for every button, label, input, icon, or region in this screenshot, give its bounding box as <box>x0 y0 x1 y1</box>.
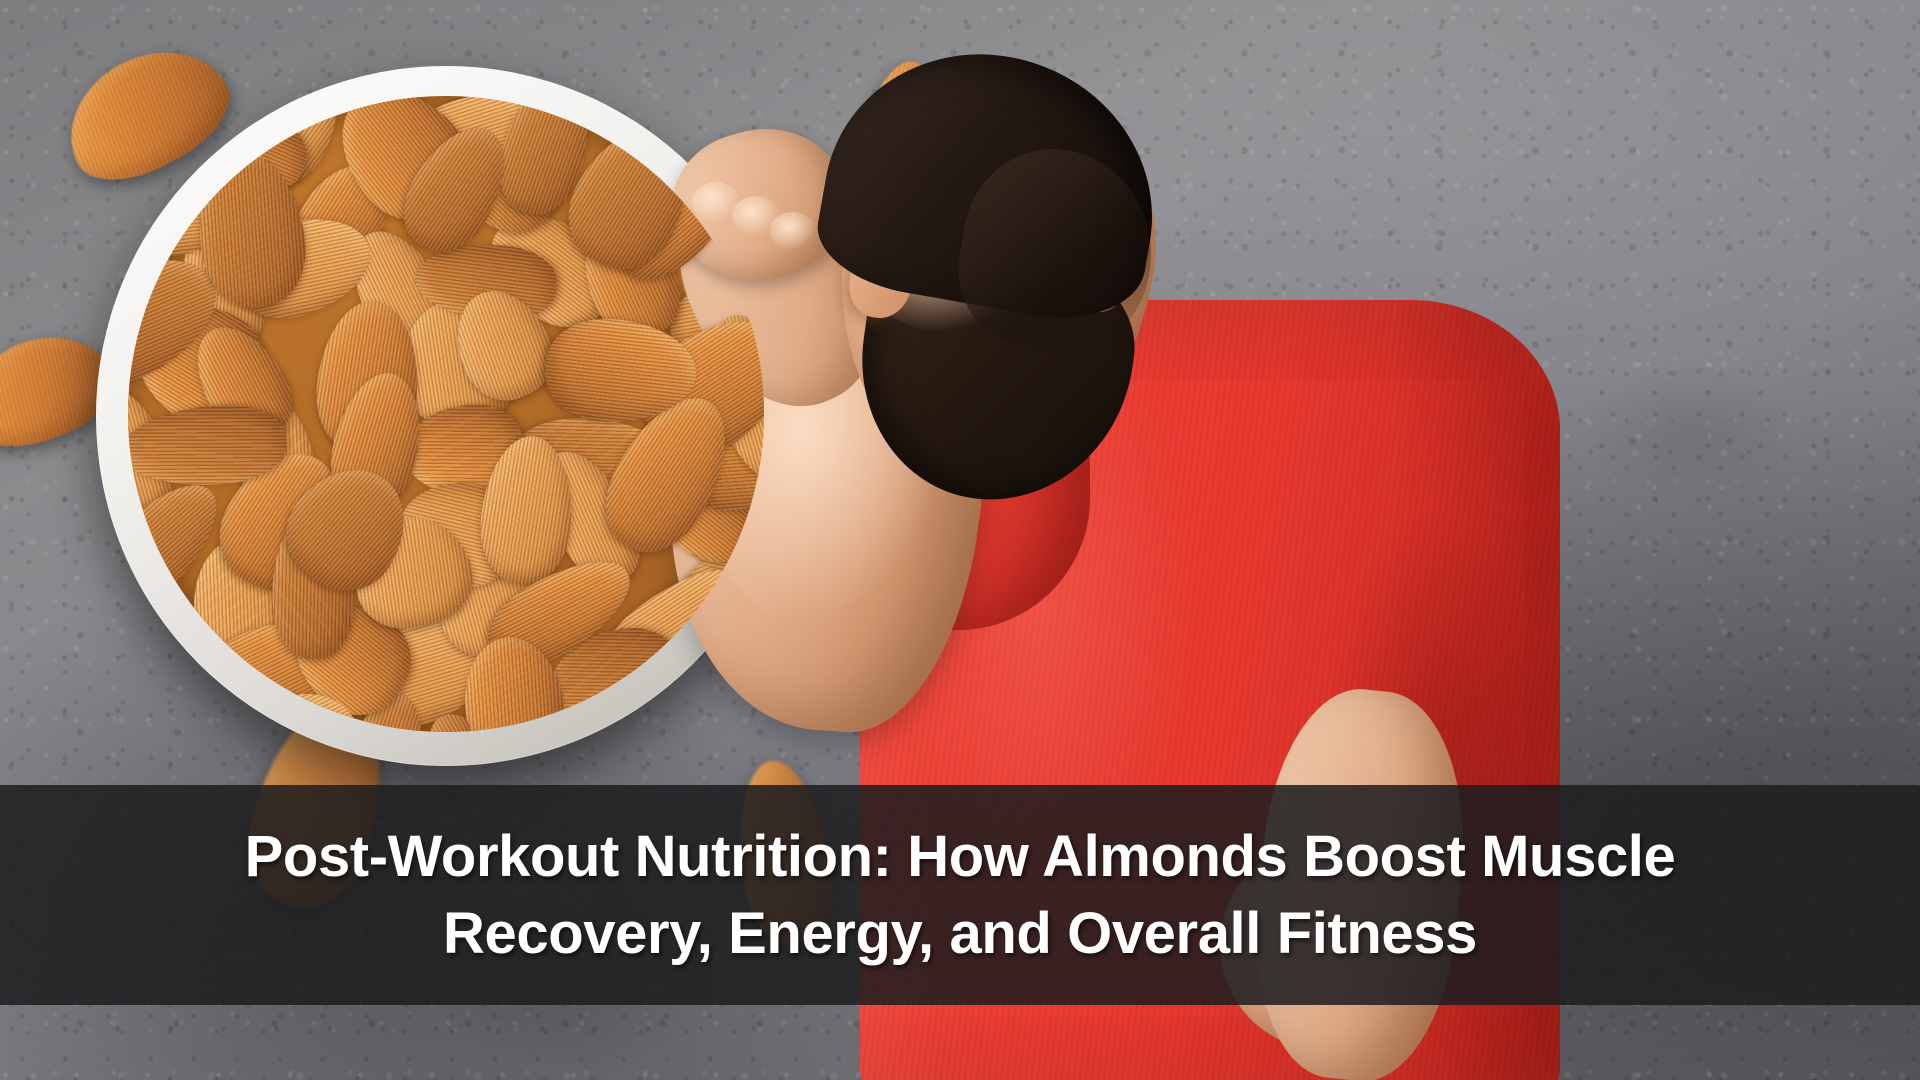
article-title-line-2: Recovery, Energy, and Overall Fitness <box>443 895 1477 972</box>
almond-pile <box>128 96 764 732</box>
almond-bowl <box>96 66 796 766</box>
article-title: Post-Workout Nutrition: How Almonds Boos… <box>0 785 1920 1005</box>
almond-bowl-interior <box>128 96 764 732</box>
knuckle <box>770 212 816 250</box>
article-hero-banner: Post-Workout Nutrition: How Almonds Boos… <box>0 0 1920 1080</box>
article-title-line-1: Post-Workout Nutrition: How Almonds Boos… <box>245 818 1676 895</box>
